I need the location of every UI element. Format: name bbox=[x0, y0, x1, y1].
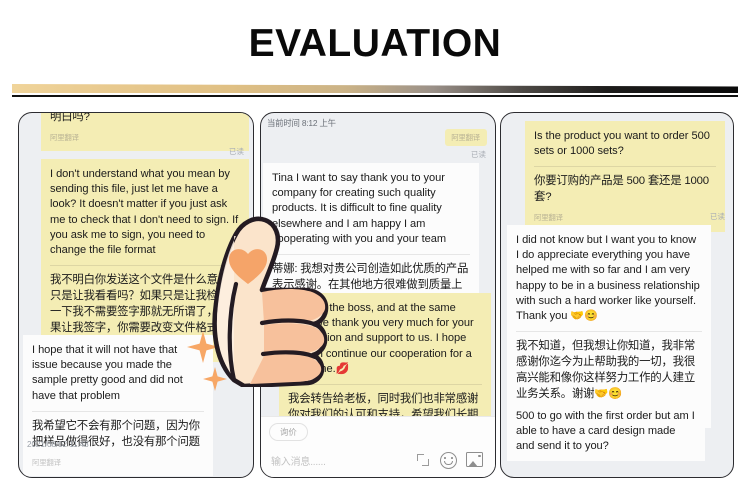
message-en: 500 to go with the first order but am I … bbox=[516, 409, 696, 455]
message-zh: 我不知道，但我想让你知道，我非常感谢你迄今为止帮助我的一切，我很高兴能和像你这样… bbox=[516, 338, 702, 402]
chat-scroll-1[interactable]: 明白吗? 阿里翻译 已读 I don't understand what you… bbox=[19, 113, 253, 477]
message-en: Is the product you want to order 500 set… bbox=[534, 129, 716, 159]
message-en: Tina I want to say thank you to your com… bbox=[272, 171, 470, 247]
translate-badge[interactable]: 阿里翻译 bbox=[445, 129, 487, 146]
chat-panel-1: 明白吗? 阿里翻译 已读 I don't understand what you… bbox=[18, 112, 254, 478]
message-en: I don't understand what you mean by send… bbox=[50, 167, 240, 258]
translate-tag: 阿里翻译 bbox=[534, 210, 716, 225]
message-timestamp: 2021/08/02 11:48 bbox=[27, 440, 89, 449]
bubble-separator bbox=[288, 384, 482, 385]
message-input[interactable]: 输入消息...... bbox=[271, 453, 326, 468]
message-bubble: I hope that it will not have that issue … bbox=[23, 335, 213, 476]
message-bubble: I don't understand what you mean by send… bbox=[41, 159, 249, 362]
bubble-separator bbox=[516, 331, 702, 332]
bubble-separator bbox=[272, 254, 470, 255]
read-receipt: 已读 bbox=[710, 211, 725, 222]
system-time-label: 当前时间 8:12 上午 bbox=[267, 117, 336, 129]
header-divider bbox=[12, 84, 738, 98]
divider-gradient-bar bbox=[12, 84, 738, 93]
message-zh: 你要订购的产品是 500 套还是 1000 套? bbox=[534, 173, 716, 205]
image-icon[interactable] bbox=[466, 452, 483, 467]
message-bubble: 500 to go with the first order but am I … bbox=[507, 401, 705, 461]
message-en: I did not know but I want you to know I … bbox=[516, 233, 702, 324]
message-en: I hope that it will not have that issue … bbox=[32, 343, 204, 404]
chat-scroll-3[interactable]: Is the product you want to order 500 set… bbox=[501, 113, 733, 477]
inquiry-chip[interactable]: 询价 bbox=[269, 423, 308, 441]
message-bubble: Is the product you want to order 500 set… bbox=[525, 121, 725, 232]
translate-tag: 阿里翻译 bbox=[50, 130, 240, 145]
chat-panel-2: 当前时间 8:12 上午 阿里翻译 已读 Tina I want to say … bbox=[260, 112, 496, 478]
bubble-separator bbox=[534, 166, 716, 167]
translate-tag: 阿里翻译 bbox=[32, 455, 204, 470]
expand-icon[interactable] bbox=[417, 454, 429, 466]
read-receipt: 已读 bbox=[471, 149, 486, 160]
message-zh: 明白吗? bbox=[50, 112, 240, 125]
message-composer: 询价 输入消息...... bbox=[261, 416, 495, 477]
chat-scroll-2[interactable]: 当前时间 8:12 上午 阿里翻译 已读 Tina I want to say … bbox=[261, 113, 495, 477]
bubble-separator bbox=[32, 411, 204, 412]
message-bubble: I did not know but I want you to know I … bbox=[507, 225, 711, 428]
page-title: EVALUATION bbox=[0, 22, 750, 66]
chat-panel-3: Is the product you want to order 500 set… bbox=[500, 112, 734, 478]
smiley-icon[interactable] bbox=[440, 452, 457, 469]
message-en: I will tell the boss, and at the same ti… bbox=[288, 301, 482, 377]
page-header: EVALUATION bbox=[0, 0, 750, 100]
chat-screenshot-row: 明白吗? 阿里翻译 已读 I don't understand what you… bbox=[0, 112, 750, 482]
read-receipt: 已读 bbox=[229, 146, 244, 157]
evaluation-page: EVALUATION 明白吗? 阿里翻译 已读 I don't understa… bbox=[0, 0, 750, 498]
bubble-separator bbox=[50, 265, 240, 266]
message-bubble: 明白吗? 阿里翻译 bbox=[41, 112, 249, 151]
composer-input-row[interactable]: 输入消息...... bbox=[261, 447, 495, 477]
divider-rule bbox=[12, 95, 738, 97]
message-zh: 我不明白你发送这个文件是什么意思只是让我看看吗？如果只是让我检查一下我不需要签字… bbox=[50, 272, 240, 336]
